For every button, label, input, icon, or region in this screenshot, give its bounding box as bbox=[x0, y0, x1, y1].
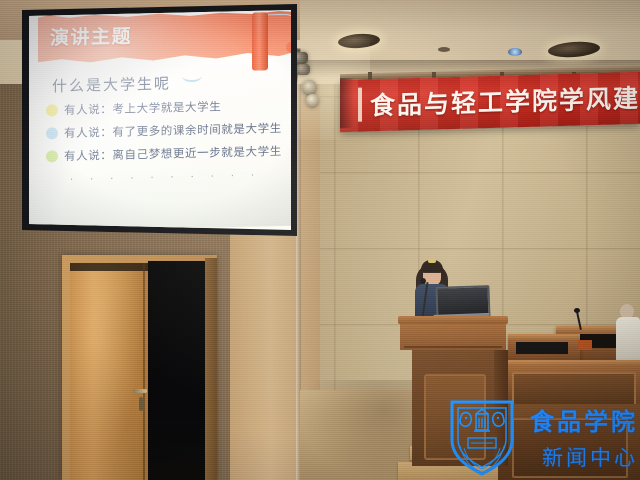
presentation-slide: 演讲主题 什么是大学生呢 有人说：考上大学就是大学生 有人说：有了更多的课余时间… bbox=[24, 4, 300, 232]
projection-screen-surface: 演讲主题 什么是大学生呢 有人说：考上大学就是大学生 有人说：有了更多的课余时间… bbox=[14, 4, 310, 242]
slide-bullet-text-1: 有人说：考上大学就是大学生 bbox=[64, 98, 221, 118]
bullet-dot-blue-icon bbox=[46, 127, 58, 139]
door-seam bbox=[143, 263, 145, 480]
slide-bullet-row-1: 有人说：考上大学就是大学生 bbox=[46, 97, 221, 119]
door-handle[interactable] bbox=[133, 389, 147, 393]
watermark-line-2: 新闻中心 bbox=[542, 442, 638, 472]
slide-heading-text: 什么是大学生呢 bbox=[52, 73, 171, 97]
desk-nameplate bbox=[578, 340, 592, 350]
slide-banner-scroll-roll bbox=[252, 12, 268, 70]
desk-microphone-head bbox=[574, 308, 580, 313]
podium-apron-trim bbox=[404, 346, 502, 348]
door-lock-icon bbox=[139, 397, 143, 411]
bench-desk-top bbox=[508, 334, 580, 340]
banner-left-shadow bbox=[340, 78, 354, 128]
slide-bullet-row-2: 有人说：有了更多的课余时间就是大学生 bbox=[46, 119, 282, 143]
slide-ellipsis: . . . . . . . . . . bbox=[70, 166, 261, 183]
slide-title-text: 演讲主题 bbox=[50, 21, 132, 50]
watermark-overlay: 食品学院 新闻中心 bbox=[446, 394, 640, 480]
bullet-dot-yellow-icon bbox=[46, 104, 58, 116]
slide-bullet-text-2: 有人说：有了更多的课余时间就是大学生 bbox=[64, 120, 282, 141]
podium-desktop-surface bbox=[398, 316, 508, 324]
door-wood-grain bbox=[70, 263, 148, 480]
red-event-banner: 食品与轻工学院学风建 bbox=[340, 72, 640, 132]
seated-person-torso bbox=[616, 317, 640, 361]
slide-bullet-row-3: 有人说：离自己梦想更近一步就是大学生 bbox=[46, 142, 282, 166]
door-opening-dark bbox=[148, 261, 206, 480]
door-top-shadow bbox=[70, 263, 148, 271]
nanjing-tech-university-shield-icon bbox=[448, 396, 516, 476]
seated-person-right bbox=[616, 304, 640, 358]
projection-screen: 演讲主题 什么是大学生呢 有人说：考上大学就是大学生 有人说：有了更多的课余时间… bbox=[14, 4, 310, 242]
door-right-jamb bbox=[205, 258, 217, 480]
red-banner-text: 食品与轻工学院学风建 bbox=[370, 79, 640, 123]
screenshot-root: 食品与轻工学院学风建 演讲主题 什么是大学生呢 有人说：考上大学就是大学生 bbox=[0, 0, 640, 480]
banner-left-accent-bar bbox=[358, 88, 362, 122]
ceiling-fixture-small bbox=[438, 47, 450, 52]
speaker-glasses-icon bbox=[424, 272, 440, 277]
speaker-hair-clip bbox=[428, 259, 436, 263]
ceiling-sensor-light bbox=[508, 48, 522, 56]
slide-bullet-text-3: 有人说：离自己梦想更近一步就是大学生 bbox=[64, 143, 282, 164]
bench-seat-dark-1 bbox=[516, 342, 568, 354]
bench-desk-top bbox=[498, 360, 640, 366]
podium-microphone-head bbox=[420, 278, 426, 284]
watermark-line-1: 食品学院 bbox=[530, 402, 638, 437]
slide-heading-underline bbox=[182, 70, 202, 82]
bullet-dot-green-icon bbox=[46, 150, 58, 162]
